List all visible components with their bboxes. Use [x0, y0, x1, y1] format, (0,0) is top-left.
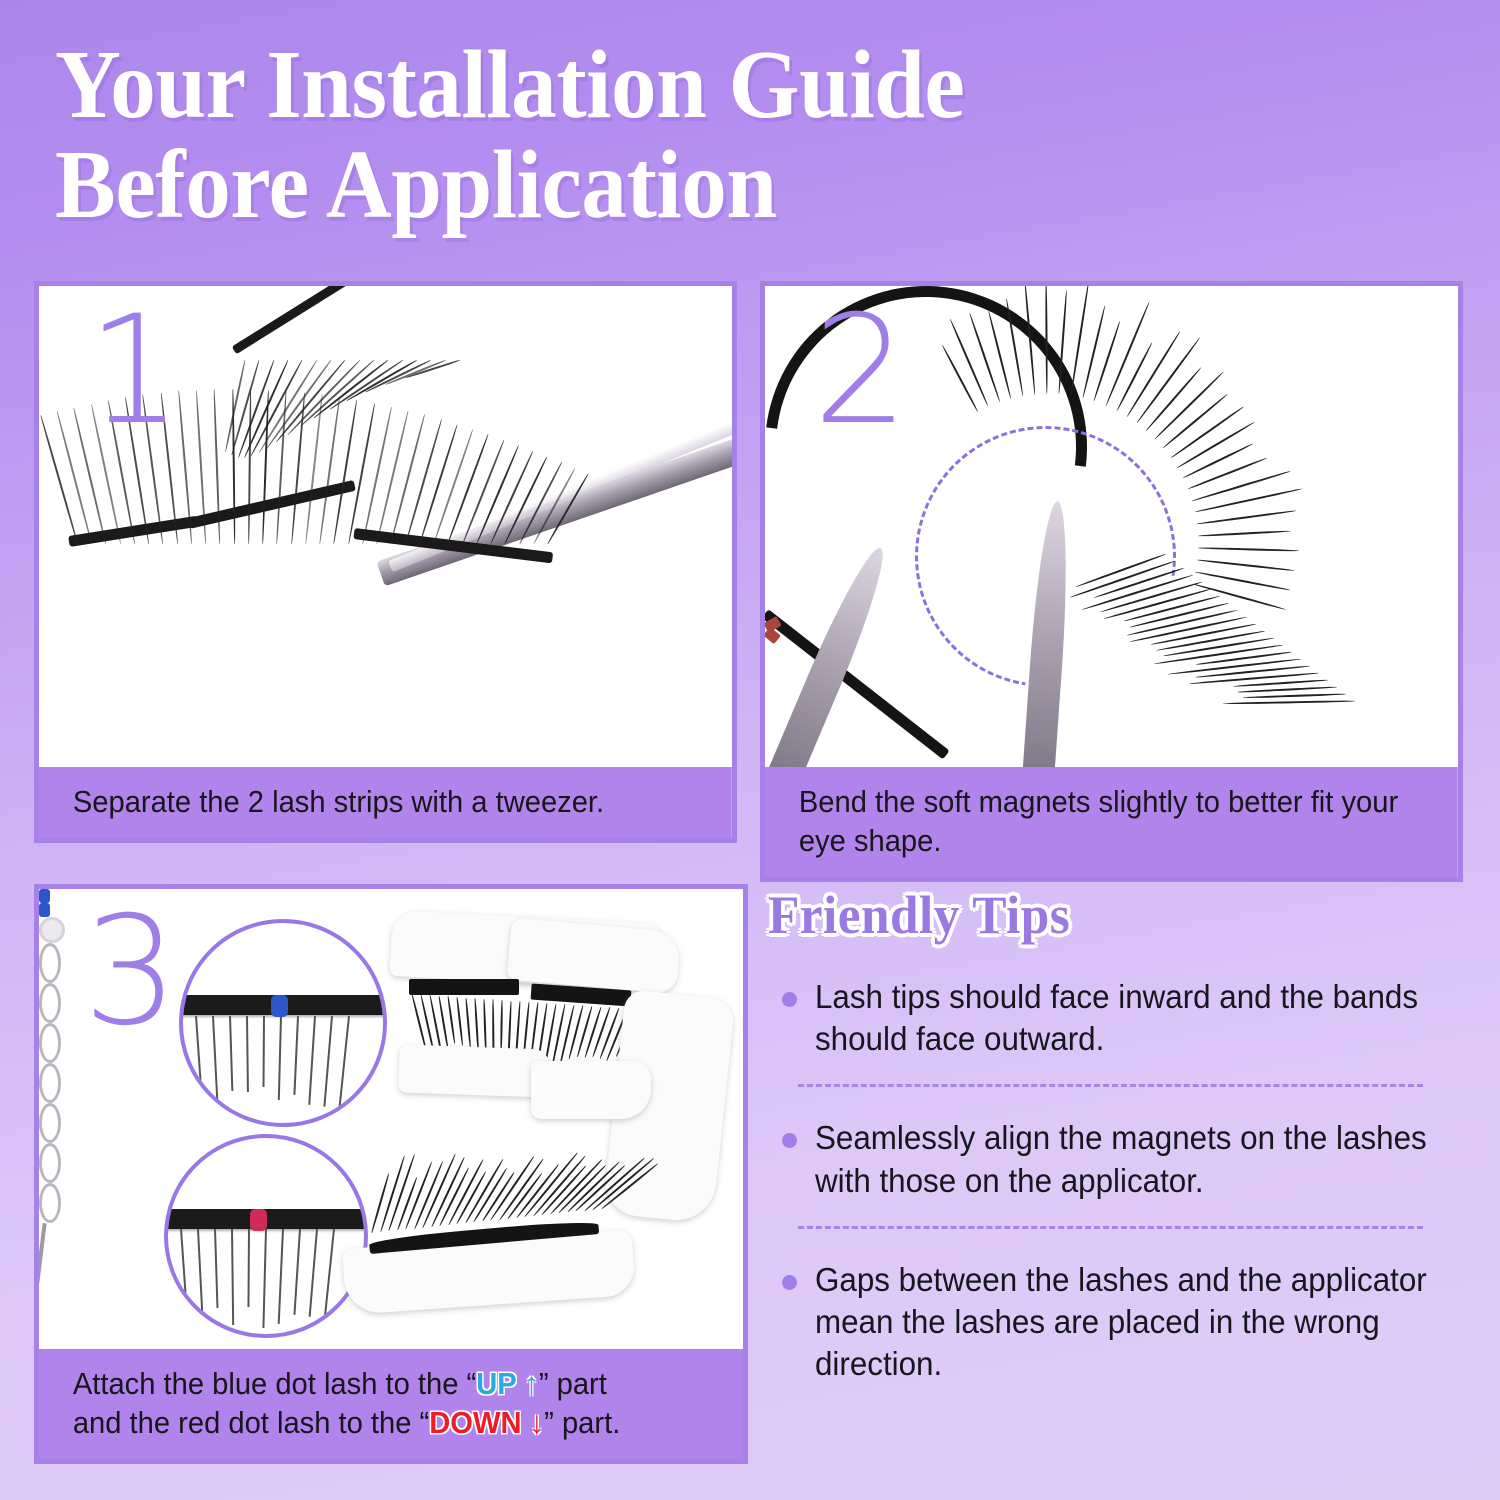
- step-3-number: 3: [83, 897, 178, 1047]
- friendly-tips-section: Friendly Tips Lash tips should face inwa…: [768, 884, 1468, 1386]
- step-1-photo: 1: [39, 286, 732, 767]
- step-2-panel: 2 Bend the soft magnets slightly to bett…: [760, 281, 1463, 882]
- step-1-panel: 1 Separate the 2 lash strips with a twee…: [34, 281, 737, 843]
- friendly-tips-heading: Friendly Tips: [768, 884, 1433, 946]
- caption-text-a: Attach the blue dot lash to the “: [73, 1366, 476, 1401]
- tip-divider: [798, 1226, 1423, 1229]
- title-line-1: Your Installation Guide: [55, 36, 1301, 136]
- tip-text: Gaps between the lashes and the applicat…: [815, 1259, 1435, 1386]
- caption-up-highlight: UP ↑: [476, 1366, 539, 1401]
- caption-text-b: ” part: [539, 1366, 607, 1401]
- tip-divider: [798, 1084, 1423, 1087]
- caption-down-highlight: DOWN ↓: [429, 1405, 544, 1440]
- step-2-photo: 2: [765, 286, 1458, 767]
- step-3-caption: Attach the blue dot lash to the “UP ↑” p…: [39, 1349, 743, 1459]
- tip-item: Seamlessly align the magnets on the lash…: [768, 1117, 1468, 1201]
- caption-text-c: and the red dot lash to the “: [73, 1405, 429, 1440]
- page-title: Your Installation Guide Before Applicati…: [55, 36, 1301, 236]
- bullet-icon: [782, 992, 797, 1007]
- step-3-panel: 3 UP↑上 DOWN↑下 Attach the blue dot lash t…: [34, 884, 748, 1464]
- tip-text: Seamlessly align the magnets on the lash…: [815, 1117, 1435, 1201]
- tip-item: Lash tips should face inward and the ban…: [768, 976, 1468, 1060]
- step-1-caption: Separate the 2 lash strips with a tweeze…: [39, 767, 732, 838]
- caption-text-d: ” part.: [544, 1405, 620, 1440]
- title-line-2: Before Application: [55, 136, 1301, 236]
- tip-text: Lash tips should face inward and the ban…: [815, 976, 1435, 1060]
- step-1-number: 1: [87, 296, 182, 446]
- tip-item: Gaps between the lashes and the applicat…: [768, 1259, 1468, 1386]
- step-2-number: 2: [813, 296, 908, 446]
- step-2-caption: Bend the soft magnets slightly to better…: [765, 767, 1458, 877]
- bullet-icon: [782, 1133, 797, 1148]
- step-3-photo: 3 UP↑上 DOWN↑下: [39, 889, 743, 1349]
- bullet-icon: [782, 1275, 797, 1290]
